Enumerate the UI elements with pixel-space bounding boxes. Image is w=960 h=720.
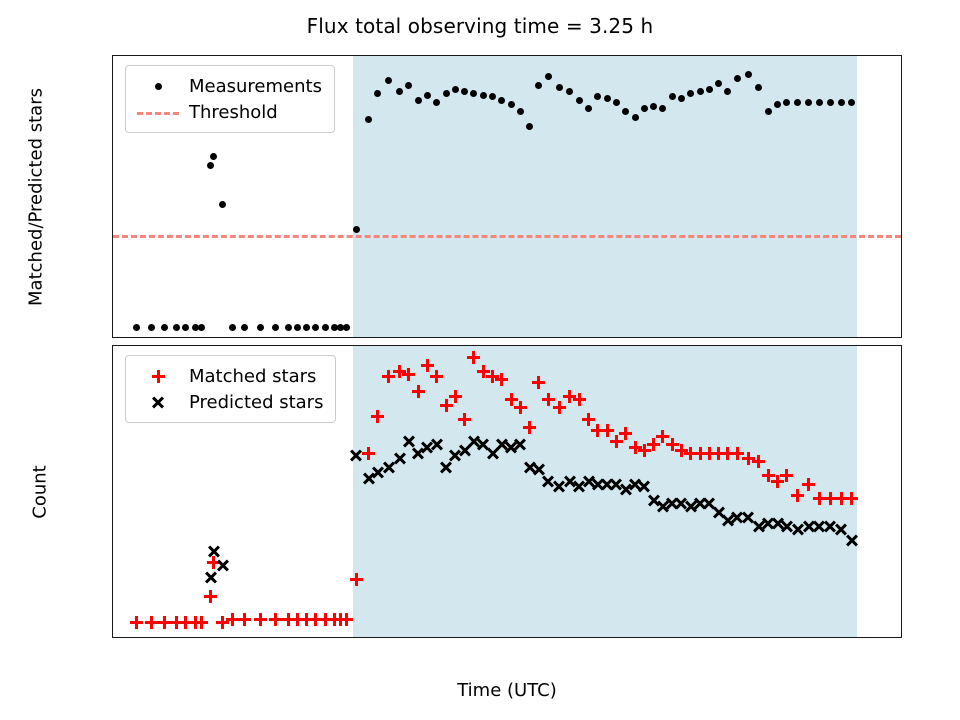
data-point-measurements (353, 226, 360, 233)
x-tick-mark (508, 637, 509, 638)
data-point-measurements (365, 116, 372, 123)
top-panel-axes: Measurements Threshold 0.000.250.500.751… (112, 55, 902, 338)
data-point-measurements (734, 75, 741, 82)
data-point-measurements (687, 90, 694, 97)
data-point-measurements (322, 324, 329, 331)
legend-label-measurements: Measurements (181, 76, 322, 97)
data-point-measurements (774, 101, 781, 108)
legend-label-matched-stars: Matched stars (181, 366, 316, 387)
data-point-measurements (745, 71, 752, 78)
data-point-measurements (219, 201, 226, 208)
data-point-measurements (650, 103, 657, 110)
data-point-measurements (396, 88, 403, 95)
data-point-measurements (461, 88, 468, 95)
y-tick-mark (112, 385, 113, 386)
figure-title: Flux total observing time = 3.25 h (0, 14, 960, 38)
data-point-measurements (480, 92, 487, 99)
data-point-measurements (415, 97, 422, 104)
y-tick-mark (112, 95, 113, 96)
data-point-measurements (576, 97, 583, 104)
data-point-measurements (641, 105, 648, 112)
data-point-measurements (133, 324, 140, 331)
data-point-measurements (604, 95, 611, 102)
data-point-measurements (545, 73, 552, 80)
y-tick-mark (112, 611, 113, 612)
legend-item-matched-stars[interactable]: Matched stars (135, 363, 323, 389)
dot-marker-icon (135, 75, 181, 97)
data-point-measurements (452, 86, 459, 93)
x-tick-mark (663, 337, 664, 338)
legend-item-threshold[interactable]: Threshold (135, 99, 322, 125)
data-point-measurements (272, 324, 279, 331)
data-point-measurements (312, 324, 319, 331)
x-tick-mark (198, 637, 199, 638)
data-point-measurements (294, 324, 301, 331)
data-point-measurements (207, 162, 214, 169)
plus-marker-icon (135, 365, 181, 387)
y-tick-mark (112, 554, 113, 555)
dashed-line-icon (135, 101, 181, 123)
y-tick-mark (112, 235, 113, 236)
data-point-measurements (303, 324, 310, 331)
y-tick-mark (112, 498, 113, 499)
data-point-measurements (508, 101, 515, 108)
legend-label-threshold: Threshold (181, 102, 278, 123)
data-point-measurements (343, 324, 350, 331)
y-tick-mark (112, 188, 113, 189)
data-point-measurements (385, 77, 392, 84)
x-tick-mark (353, 337, 354, 338)
y-tick-mark (112, 281, 113, 282)
data-point-measurements (556, 84, 563, 91)
data-point-measurements (706, 86, 713, 93)
y-tick-mark (112, 442, 113, 443)
bottom-panel-legend: Matched stars Predicted stars (125, 355, 336, 423)
x-tick-mark (818, 637, 819, 638)
x-axis-label: Time (UTC) (457, 680, 557, 701)
data-point-measurements (838, 99, 845, 106)
data-point-measurements (805, 99, 812, 106)
y-tick-mark (112, 328, 113, 329)
data-point-measurements (443, 90, 450, 97)
threshold-line (113, 235, 901, 238)
data-point-measurements (148, 324, 155, 331)
data-point-measurements (816, 99, 823, 106)
data-point-measurements (632, 114, 639, 121)
data-point-measurements (827, 99, 834, 106)
data-point-measurements (424, 92, 431, 99)
bottom-panel-axes: Matched stars Predicted stars 4060801001… (112, 345, 902, 638)
y-tick-mark (112, 142, 113, 143)
x-tick-mark (353, 637, 354, 638)
data-point-measurements (585, 105, 592, 112)
data-point-measurements (241, 324, 248, 331)
bottom-panel-y-axis-label: Count (30, 465, 51, 518)
x-tick-mark (508, 337, 509, 338)
x-tick-mark (198, 337, 199, 338)
data-point-measurements (173, 324, 180, 331)
x-tick-mark (663, 637, 664, 638)
data-point-measurements (697, 88, 704, 95)
data-point-measurements (182, 324, 189, 331)
legend-item-measurements[interactable]: Measurements (135, 73, 322, 99)
data-point-measurements (161, 324, 168, 331)
data-point-measurements (210, 153, 217, 160)
legend-item-predicted-stars[interactable]: Predicted stars (135, 389, 323, 415)
shaded-observing-window (353, 346, 856, 637)
data-point-measurements (613, 99, 620, 106)
top-panel-legend: Measurements Threshold (125, 65, 335, 133)
cross-marker-icon (135, 391, 181, 413)
legend-label-predicted-stars: Predicted stars (181, 392, 323, 413)
data-point-measurements (257, 324, 264, 331)
data-point-measurements (229, 324, 236, 331)
data-point-measurements (198, 324, 205, 331)
figure-canvas: Flux total observing time = 3.25 h Measu… (0, 0, 960, 720)
data-point-measurements (285, 324, 292, 331)
top-panel-y-axis-label: Matched/Predicted stars (26, 88, 47, 306)
x-tick-mark (818, 337, 819, 338)
